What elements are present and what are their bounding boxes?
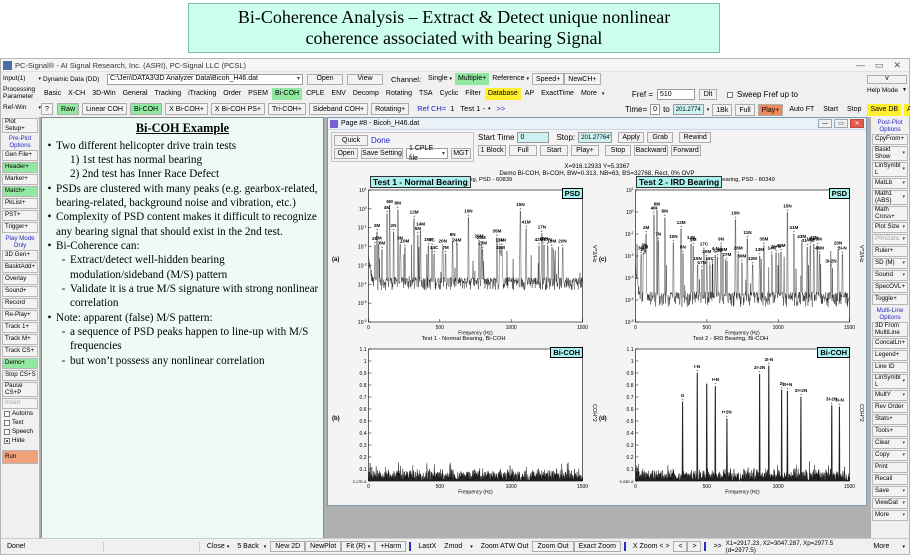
status-zmod-button[interactable]: Zmod▾ — [440, 541, 476, 552]
sidebar-item-label: Ruler+ — [875, 248, 893, 255]
right-sidebar-toggle-[interactable]: Toggle+ — [872, 294, 908, 305]
toolbar-row-coh: Ref-Win ▾ ? RawLinear COHBi-COHX Bi-COH+… — [1, 101, 625, 116]
left-sidebar-track-m-[interactable]: Track M+ — [2, 334, 38, 345]
plot-window: Page #8 - Bicoh_H46.dat — ▭ ✕ Quick Done — [327, 117, 867, 506]
right-sidebar-line-id[interactable]: Line ID — [872, 362, 908, 373]
quick-button[interactable]: Quick — [334, 135, 368, 146]
svg-text:1: 1 — [364, 359, 367, 365]
right-sidebar-save[interactable]: Save▾ — [872, 486, 908, 497]
status-zoom-atw-out-button[interactable]: Zoom ATW Out — [477, 541, 533, 552]
apply-button[interactable]: Apply — [618, 132, 644, 143]
open-button[interactable]: Open — [307, 74, 343, 85]
left-sidebar-trigger-[interactable]: Trigger+ — [2, 222, 38, 233]
right-sidebar-math1-abs-[interactable]: Math1 (ABS)▾ — [872, 190, 908, 205]
coh-tab-raw[interactable]: Raw — [57, 103, 79, 115]
bullet-marker: - — [60, 325, 67, 354]
right-sidebar-plot-size[interactable]: Plot Size▾ — [872, 222, 908, 233]
minimize-button[interactable]: — — [856, 60, 865, 71]
left-sidebar-pklist-[interactable]: PkList+ — [2, 198, 38, 209]
peak-label: 11N — [743, 230, 752, 235]
help-caret-button[interactable]: v — [867, 75, 907, 84]
status-close-button[interactable]: Close▾ — [203, 541, 233, 552]
view-button[interactable]: View — [347, 74, 383, 85]
plot-maximize-button[interactable]: ▭ — [834, 119, 848, 128]
left-sidebar-demo-[interactable]: Demo+ — [2, 358, 38, 369]
checkbox-label: Speech — [12, 428, 33, 435]
status-newplot-button[interactable]: NewPlot — [305, 541, 341, 552]
proc-tab-exacttime[interactable]: ExactTime — [538, 88, 577, 100]
right-sidebar-sd-m-[interactable]: SD (M)▾ — [872, 258, 908, 269]
right-sidebar-stats-[interactable]: Stats+ — [872, 414, 908, 425]
right-sidebar-recall[interactable]: Recall — [872, 474, 908, 485]
proc-tab-tsa[interactable]: TSA — [416, 88, 436, 100]
left-sidebar-overlay[interactable]: Overlay — [2, 274, 38, 285]
chevron-down-icon[interactable]: ▾ — [902, 489, 905, 494]
sidebar-item-label: SD (M) — [875, 260, 895, 267]
channel-multiple-option[interactable]: Multiple+ — [455, 73, 489, 85]
sidebar-item-label: Recall — [875, 476, 892, 483]
left-sidebar-header-[interactable]: Header+ — [2, 162, 38, 173]
proc-tab-cple[interactable]: CPLE — [303, 88, 327, 100]
proc-tab-x-ch[interactable]: X-CH — [65, 88, 88, 100]
time-to-input[interactable]: 201.2774 — [673, 104, 704, 115]
status-exact-zoom-button[interactable]: Exact Zoom — [574, 541, 621, 552]
status-bar: Done! Close▾ 5 Back▾ New 2D NewPlot Fit … — [1, 538, 909, 554]
forward-button[interactable]: Forward — [671, 145, 701, 156]
coh-tab-x-bi-coh-ps-[interactable]: X Bi-COH PS+ — [211, 103, 265, 115]
chart-panel-a[interactable]: Test 1 - Normal Bearing, PSD - 608391011… — [330, 177, 597, 336]
peak-label: 30M — [737, 254, 746, 259]
bullet-marker: • — [46, 239, 53, 253]
bullet-text: Two different helicopter drive train tes… — [56, 139, 319, 153]
left-sidebar: Plot Setup+Pre-Plot OptionsGen File+Head… — [1, 117, 39, 538]
bullet-marker: • — [46, 210, 53, 239]
checkbox-icon[interactable] — [4, 429, 10, 435]
sidebar-item-label: PfmData — [875, 236, 899, 243]
left-sidebar-re-play-[interactable]: Re-Play+ — [2, 310, 38, 321]
peak-label: 2N — [391, 223, 398, 228]
datafile-path-value: C:\Jen\DATA3\3D Analyzer Data\Bicoh_H46.… — [110, 74, 258, 84]
right-sidebar-ruler-[interactable]: Ruler+ — [872, 246, 908, 257]
status-lastx-button[interactable]: LastX — [414, 541, 440, 552]
left-sidebar-pre-plot-options: Pre-Plot Options — [2, 134, 38, 149]
chevron-down-icon[interactable]: ▾ — [902, 273, 905, 278]
sidebar-item-label: 3D From MultiLine — [875, 323, 905, 336]
full-button[interactable]: Full — [735, 104, 754, 116]
svg-text:1500: 1500 — [577, 484, 588, 490]
close-button[interactable]: ✕ — [893, 60, 901, 71]
speed-button[interactable]: Speed+ — [532, 73, 564, 85]
peak-label: 25M — [477, 235, 486, 240]
peak-label: 20N — [438, 238, 447, 243]
status-done: Done! — [1, 543, 100, 550]
chevron-down-icon[interactable]: ▾ — [293, 74, 300, 84]
slide-bullet: •Bi-Coherence can: — [46, 239, 319, 253]
plot-play-button[interactable]: Play+ — [571, 145, 599, 156]
left-checkbox-text[interactable]: Text — [4, 419, 38, 426]
coh-tab-sideband-coh-[interactable]: Sideband COH+ — [309, 103, 368, 115]
right-sidebar-print[interactable]: Print — [872, 462, 908, 473]
svg-text:101: 101 — [626, 187, 634, 194]
chevron-down-icon[interactable]: ▾ — [902, 261, 905, 266]
bullet-marker — [60, 167, 67, 181]
left-sidebar-track-1-[interactable]: Track 1+ — [2, 322, 38, 333]
checkbox-icon[interactable] — [4, 411, 10, 417]
slide-bullet: •Complexity of PSD content makes it diff… — [46, 210, 319, 239]
status-xzoom-label[interactable]: X Zoom < > — [629, 541, 674, 552]
left-sidebar-3d-gen-[interactable]: 3D Gen+ — [2, 250, 38, 261]
chart-panel-d[interactable]: Test 2 - IRD Bearing, Bi-COH1.110.90.80.… — [597, 336, 864, 495]
rewind-button[interactable]: Rewind — [679, 132, 711, 143]
coh-tab-bi-coh[interactable]: Bi-COH — [130, 103, 162, 115]
proc-tab-ap[interactable]: AP — [522, 88, 537, 100]
left-checkbox-hide[interactable]: Hide — [4, 437, 38, 444]
chevron-down-icon[interactable]: ▾ — [902, 453, 905, 458]
sidebar-item-label: Tools+ — [875, 428, 893, 435]
peak-label: 49M — [813, 237, 822, 242]
bullet-text: Bi-Coherence can: — [56, 239, 319, 253]
chevron-down-icon[interactable]: ▾ — [902, 501, 905, 506]
status-next-button[interactable]: > — [687, 541, 701, 552]
peak-label: 35M — [759, 237, 768, 242]
peak-label: 6M — [386, 199, 393, 204]
peak-label: 3N — [641, 243, 648, 248]
proc-tab-itracking[interactable]: iTracking — [185, 88, 219, 100]
right-sidebar-matlb[interactable]: MatLb▾ — [872, 178, 908, 189]
status-new2d-button[interactable]: New 2D — [270, 541, 305, 552]
left-sidebar-basktadd-[interactable]: BasktAdd+ — [2, 262, 38, 273]
grab-button[interactable]: Grab — [647, 132, 673, 143]
status-zoom-out-button[interactable]: Zoom Out — [532, 541, 573, 552]
svg-text:500: 500 — [436, 325, 445, 331]
reference-option[interactable]: Reference ▾ — [489, 73, 532, 85]
refch-number: 1 — [450, 104, 454, 113]
chart-type-badge: PSD — [562, 188, 583, 199]
proc-tab-database[interactable]: Database — [485, 88, 521, 100]
peak-label: 23M — [478, 240, 487, 245]
plot-start-button[interactable]: Start — [540, 145, 568, 156]
bullet-text: a sequence of PSD peaks happen to line-u… — [70, 325, 319, 354]
chevron-down-icon[interactable]: ▾ — [902, 195, 905, 200]
datafile-path-input[interactable]: C:\Jen\DATA3\3D Analyzer Data\Bicoh_H46.… — [107, 74, 303, 85]
bullet-marker: • — [46, 139, 53, 153]
chevron-down-icon[interactable]: ▾ — [488, 106, 491, 112]
status-forward-button[interactable]: >> — [709, 541, 725, 552]
proc-tab-tracking[interactable]: Tracking — [152, 88, 185, 100]
chevron-down-icon[interactable]: ▾ — [707, 107, 710, 113]
application-window: PC-Signal® - AI Signal Research, Inc. (A… — [0, 58, 910, 555]
proc-tab-filter[interactable]: Filter — [462, 88, 484, 100]
bullet-text: Validate it is a true M/S signature with… — [70, 282, 319, 311]
start-time-input[interactable]: 0 — [517, 132, 549, 143]
plot-open-button[interactable]: Open — [334, 148, 358, 159]
slide-heading: Bi-COH Example — [46, 121, 319, 137]
proc-tab-env[interactable]: ENV — [328, 88, 348, 100]
peak-label: 2I-2N — [754, 365, 766, 370]
chevron-down-icon[interactable]: ▾ — [902, 151, 905, 156]
bullet-marker: • — [46, 182, 53, 211]
banner-line-2: coherence associated with bearing Signal — [238, 28, 670, 49]
maximize-button[interactable]: ▭ — [875, 60, 884, 71]
right-sidebar-viewdat[interactable]: ViewDat▾ — [872, 498, 908, 509]
peak-label: I-N — [694, 364, 701, 369]
sidebar-item-label: Math Cross+ — [875, 207, 905, 220]
peak-label: 7M — [442, 245, 449, 250]
stop-time-input[interactable]: 201.27764' — [578, 132, 612, 143]
chevron-down-icon[interactable]: ▾ — [902, 181, 905, 186]
left-sidebar-plot-setup-[interactable]: Plot Setup+ — [2, 118, 38, 133]
peak-label: 12M — [410, 210, 419, 215]
checkbox-label: Hide — [12, 437, 25, 444]
status-coordinates: X1=2917.23, X2=3047.287, Xp=2977.5 (d=29… — [726, 540, 870, 554]
autoft-button[interactable]: Auto FT — [786, 104, 817, 116]
peak-label: 12M — [677, 220, 686, 225]
chart-plot-area[interactable]: 10110010-110-210-310-410-510-60500100015… — [330, 184, 597, 336]
slide-bullet: •PSDs are clustered with many peaks (e.g… — [46, 182, 319, 211]
left-checkbox-autoins[interactable]: AutoIns — [4, 410, 38, 417]
status-prev-button[interactable]: < — [673, 541, 687, 552]
peak-label: 16C — [705, 256, 714, 261]
svg-text:10-6: 10-6 — [358, 319, 367, 326]
left-sidebar-gen-file-[interactable]: Gen File+ — [2, 150, 38, 161]
peak-label: 20M — [702, 249, 711, 254]
right-sidebar-cpyfrom-[interactable]: CpyFrom+ — [872, 134, 908, 145]
svg-text:500: 500 — [703, 484, 712, 490]
workspace-canvas[interactable]: Bi-COH Example •Two different helicopter… — [39, 117, 871, 538]
right-sidebar-multy[interactable]: MultY▾ — [872, 390, 908, 401]
right-sidebar-sound[interactable]: Sound▾ — [872, 270, 908, 281]
input-label: Input(1) — [3, 76, 25, 83]
marker-bar-icon-3 — [704, 542, 706, 551]
plot-full-button[interactable]: Full — [509, 145, 537, 156]
sidebar-item-label: Multi-Line Options — [874, 308, 906, 321]
peak-label: 10N — [464, 208, 473, 213]
svg-text:1000: 1000 — [773, 484, 784, 490]
plot-stop-button[interactable]: Stop — [605, 145, 631, 156]
svg-text:0: 0 — [634, 484, 637, 490]
left-sidebar-pause-cs-p[interactable]: Pause CS+P — [2, 382, 38, 397]
plot-window-title: Page #8 - Bicoh_H46.dat — [341, 120, 419, 127]
status-more-button[interactable]: More▾ — [869, 541, 909, 552]
chevron-down-icon[interactable]: ▼ — [902, 87, 907, 93]
right-sidebar-baskt-show[interactable]: Baskt Show▾ — [872, 146, 908, 161]
left-sidebar-record[interactable]: Record — [2, 298, 38, 309]
chevron-down-icon: ▾ — [368, 542, 371, 552]
left-sidebar-insert[interactable]: Insert — [2, 398, 38, 409]
channel-single-option[interactable]: Single ▾ — [425, 73, 455, 85]
plot-window-icon — [330, 120, 338, 128]
coh-tab-x-bi-coh-[interactable]: X Bi-COH+ — [165, 103, 208, 115]
panel-index: (d) — [599, 416, 607, 422]
proc-tab-psem[interactable]: PSEM — [245, 88, 271, 100]
fref-label: Fref = — [625, 90, 653, 99]
svg-text:0.5: 0.5 — [627, 419, 634, 425]
right-sidebar-math-cross-[interactable]: Math Cross+ — [872, 206, 908, 221]
proc-tab-order[interactable]: Order — [220, 88, 244, 100]
newch-button[interactable]: NewCH+ — [564, 73, 600, 85]
proc-tab-general[interactable]: General — [120, 88, 151, 100]
slide-bullet: -a sequence of PSD peaks happen to line-… — [60, 325, 319, 354]
stop-time-label: Stop: — [556, 133, 575, 142]
right-sidebar-pfmdata[interactable]: PfmData▾ — [872, 234, 908, 245]
proc-tab-3d-win[interactable]: 3D-Win — [89, 88, 118, 100]
chevron-down-icon[interactable]: ▾ — [602, 91, 605, 97]
sidebar-item-label: Rev Order — [875, 404, 904, 411]
svg-text:1000: 1000 — [506, 484, 517, 490]
fref-input[interactable]: 510 — [657, 89, 695, 100]
dlt-button[interactable]: Dlt — [699, 89, 717, 100]
right-sidebar-rev-order[interactable]: Rev Order — [872, 402, 908, 413]
plot-window-titlebar: Page #8 - Bicoh_H46.dat — ▭ ✕ — [328, 118, 866, 130]
slide-title-banner: Bi-Coherence Analysis – Extract & Detect… — [188, 3, 720, 53]
svg-text:0.8: 0.8 — [360, 383, 367, 389]
right-sidebar-linsymbl-l[interactable]: LinSymbl L▾ — [872, 162, 908, 177]
chart-plot-area[interactable]: 1.110.90.80.70.60.50.40.30.20.13.17E-605… — [330, 343, 597, 495]
input-selector[interactable]: Input(1) ▾ — [1, 76, 41, 83]
bullet-text: 1) 1st test has normal bearing — [70, 153, 319, 167]
time-from-input[interactable]: 0 — [650, 104, 660, 115]
save-setting-button[interactable]: Save Setting — [361, 148, 403, 159]
sidebar-item-label: More — [875, 512, 889, 519]
peak-label: 35M — [492, 229, 501, 234]
chevron-down-icon[interactable]: ▾ — [902, 237, 905, 242]
status-harm-button[interactable]: +Harm — [375, 541, 406, 552]
slide-bullet: -but won’t possess any nonlinear correla… — [60, 354, 319, 368]
checkbox-icon[interactable] — [4, 420, 10, 426]
svg-text:10-4: 10-4 — [625, 297, 634, 304]
proc-tab-bi-coh[interactable]: Bi-COH — [272, 88, 302, 100]
proc-tab-decomp[interactable]: Decomp — [350, 88, 382, 100]
right-sidebar: Post-Plot OptionsCpyFrom+Baskt Show▾LinS… — [871, 117, 909, 538]
refwin-selector[interactable]: Ref-Win ▾ — [1, 105, 41, 112]
proc-tab-basic[interactable]: Basic — [41, 88, 64, 100]
sidebar-item-label: Print — [875, 464, 888, 471]
svg-text:100: 100 — [359, 206, 367, 213]
next-test-button[interactable]: >> — [497, 104, 506, 113]
svg-text:0.2: 0.2 — [627, 455, 634, 461]
plot-minimize-button[interactable]: — — [818, 119, 832, 128]
bullet-text: but won’t possess any nonlinear correlat… — [70, 354, 319, 368]
sidebar-item-label: Copy — [875, 452, 889, 459]
chart-title: Test 2 - IRD Bearing, Bi-COH — [597, 336, 864, 343]
coh-tab-linear-coh[interactable]: Linear COH — [82, 103, 127, 115]
play-button[interactable]: Play+ — [758, 104, 784, 116]
bullet-text: 2) 2nd test has Inner Race Defect — [70, 167, 319, 181]
left-sidebar-stop-cs-s[interactable]: Stop CS+S — [2, 370, 38, 381]
chevron-down-icon[interactable]: ▾ — [902, 225, 905, 230]
status-fit-button[interactable]: Fit (R)▾ — [341, 541, 375, 552]
right-sidebar-legend-[interactable]: Legend+ — [872, 350, 908, 361]
left-sidebar-marker-[interactable]: Marker+ — [2, 174, 38, 185]
marker-bar-icon-2 — [624, 542, 626, 551]
peak-label: 7N — [655, 232, 662, 237]
chevron-down-icon[interactable]: ▾ — [902, 379, 905, 384]
svg-text:5.03E-6: 5.03E-6 — [619, 479, 634, 484]
plot-close-button[interactable]: ✕ — [850, 119, 864, 128]
chevron-down-icon: ▾ — [470, 542, 473, 552]
chevron-down-icon: ▾ — [526, 76, 529, 82]
slide-bullet: •Two different helicopter drive train te… — [46, 139, 319, 153]
checkbox-label: Text — [12, 419, 23, 426]
coh-tab-tri-coh-[interactable]: Tri-COH+ — [268, 103, 306, 115]
peak-label: 15N — [516, 202, 525, 207]
svg-text:0.1: 0.1 — [360, 467, 367, 473]
one-block-button[interactable]: 1 Block — [478, 145, 506, 156]
peak-label: 28M — [734, 245, 743, 250]
status-5back-button[interactable]: 5 Back▾ — [233, 541, 270, 552]
proc-tab-rotating[interactable]: Rotating — [383, 88, 415, 100]
svg-text:1.1: 1.1 — [627, 347, 634, 353]
sidebar-item-label: SpecOVL+ — [875, 284, 905, 291]
file-type-select[interactable]: 1 CPLE file ▾ — [406, 148, 448, 159]
chevron-down-icon[interactable]: ▾ — [902, 441, 905, 446]
svg-text:0.7: 0.7 — [627, 395, 634, 401]
right-sidebar-copy[interactable]: Copy▾ — [872, 450, 908, 461]
slide-text-panel: Bi-COH Example •Two different helicopter… — [41, 117, 324, 538]
toolbar-row-processing: Processing Parameter BasicX-CH3D-WinGene… — [1, 86, 625, 101]
sweep-fref-checkbox[interactable] — [727, 92, 733, 98]
svg-text:1: 1 — [631, 359, 634, 365]
blk-button[interactable]: 1Bk — [712, 104, 732, 116]
chevron-down-icon[interactable]: ▾ — [902, 167, 905, 172]
peak-label: 14M — [416, 222, 425, 227]
bullet-text: Complexity of PSD content makes it diffi… — [56, 210, 319, 239]
right-sidebar-concatln-[interactable]: ConcatLn+ — [872, 338, 908, 349]
peak-label: 8M — [395, 201, 402, 206]
peak-label: I+2N — [722, 410, 733, 415]
backward-button[interactable]: Backward — [634, 145, 668, 156]
proc-tab-more[interactable]: More — [578, 88, 600, 100]
slide-bullet: 2) 2nd test has Inner Race Defect — [60, 167, 319, 181]
mgt-button[interactable]: MGT — [451, 148, 471, 159]
chart-plot-area[interactable]: 10110010-110-210-310-410-5050010001500Fr… — [597, 184, 864, 336]
left-sidebar-sound-[interactable]: Sound+ — [2, 286, 38, 297]
coh-tab-rotating-[interactable]: Rotating+ — [371, 103, 409, 115]
chevron-down-icon: ▾ — [449, 76, 452, 82]
peak-label: 10N — [669, 234, 678, 239]
chevron-down-icon[interactable]: ▾ — [902, 513, 905, 518]
stop-button[interactable]: Stop — [844, 104, 864, 116]
left-checkbox-speech[interactable]: Speech — [4, 428, 38, 435]
checkbox-icon[interactable] — [4, 438, 10, 444]
right-sidebar-tools-[interactable]: Tools+ — [872, 426, 908, 437]
sweep-fref-label: Sweep Fref up to — [737, 90, 798, 99]
refch-label: Ref CH= — [417, 104, 446, 113]
chart-plot-area[interactable]: 1.110.90.80.70.60.50.40.30.20.15.03E-605… — [597, 343, 864, 495]
chevron-down-icon[interactable]: ▾ — [902, 393, 905, 398]
peak-label: 2I-N — [765, 357, 774, 362]
proc-tab-cyclic[interactable]: Cyclic — [437, 88, 462, 100]
help-question-button[interactable]: ? — [41, 103, 53, 115]
run-button[interactable]: Run — [2, 450, 38, 464]
start-button[interactable]: Start — [820, 104, 841, 116]
right-sidebar-linsymbl-l[interactable]: LinSymbl L▾ — [872, 374, 908, 389]
right-sidebar-specovl-[interactable]: SpecOVL+ — [872, 282, 908, 293]
right-sidebar-3d-from-multiline[interactable]: 3D From MultiLine — [872, 322, 908, 337]
slide-bullet-list: •Two different helicopter drive train te… — [46, 139, 319, 368]
svg-text:1.1: 1.1 — [360, 347, 367, 353]
test-select-value[interactable]: Test 1 - — [460, 104, 485, 113]
left-sidebar-match-[interactable]: Match+ — [2, 186, 38, 197]
right-sidebar-clear[interactable]: Clear▾ — [872, 438, 908, 449]
sidebar-item-label: Sound — [875, 272, 893, 279]
chart-panel-b[interactable]: Test 1 - Normal Bearing, Bi-COH1.110.90.… — [330, 336, 597, 495]
left-sidebar-track-cs-[interactable]: Track CS+ — [2, 346, 38, 357]
chart-panel-c[interactable]: Test 2 - IRD Bearing, PSD - 803491011001… — [597, 177, 864, 336]
right-sidebar-more[interactable]: More▾ — [872, 510, 908, 521]
left-sidebar-pst-[interactable]: PST+ — [2, 210, 38, 221]
sidebar-item-label: Baskt Show — [875, 147, 905, 160]
